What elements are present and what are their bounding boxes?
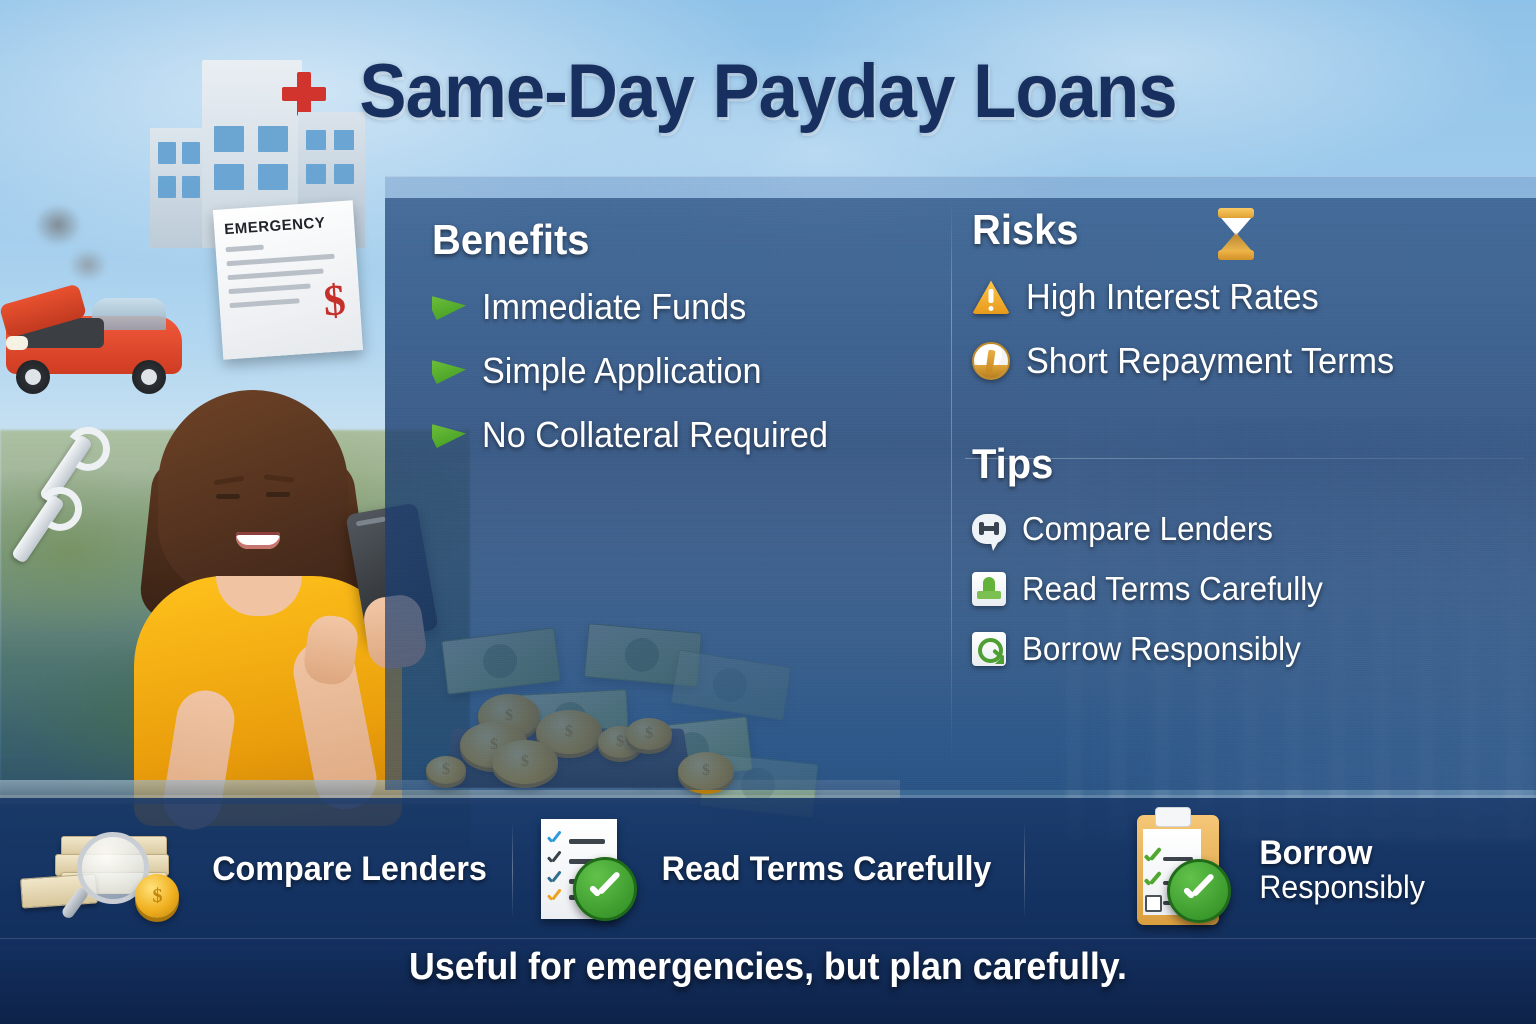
benefit-label: No Collateral Required bbox=[482, 414, 828, 456]
risks-and-tips-section: Risks High Interest Rates Short Repaymen… bbox=[972, 206, 1472, 690]
document-tile-icon bbox=[972, 572, 1006, 606]
broken-down-car-icon bbox=[0, 280, 190, 400]
emergency-document-title: EMERGENCY bbox=[224, 212, 355, 238]
bottom-item-borrow-responsibly: Borrow Responsibly bbox=[1024, 795, 1536, 945]
benefit-item: Immediate Funds bbox=[432, 286, 902, 328]
column-divider bbox=[951, 202, 952, 762]
tagline: Useful for emergencies, but plan careful… bbox=[46, 946, 1490, 989]
risk-label: High Interest Rates bbox=[1026, 276, 1319, 318]
tips-heading: Tips bbox=[972, 440, 1447, 488]
risk-label: Short Repayment Terms bbox=[1026, 340, 1394, 382]
benefits-section: Benefits Immediate Funds Simple Applicat… bbox=[432, 216, 902, 478]
risk-item: High Interest Rates bbox=[972, 276, 1472, 318]
bottom-item-label: Compare Lenders bbox=[213, 852, 488, 887]
benefit-item: Simple Application bbox=[432, 350, 902, 392]
emergency-document: EMERGENCY $ bbox=[213, 200, 363, 359]
warning-triangle-icon bbox=[972, 280, 1010, 314]
bottom-item-label-line1: Borrow bbox=[1259, 834, 1372, 872]
bottom-item-compare-lenders: Compare Lenders bbox=[0, 795, 512, 945]
benefits-heading: Benefits bbox=[432, 216, 879, 264]
magnifier-tile-icon bbox=[972, 632, 1006, 666]
benefit-label: Simple Application bbox=[482, 350, 761, 392]
green-arrow-bullet-icon bbox=[432, 422, 466, 448]
tip-item: Compare Lenders bbox=[972, 510, 1472, 548]
wrench-icon bbox=[11, 494, 66, 564]
speech-bubble-icon bbox=[972, 514, 1006, 544]
dollar-sign-icon: $ bbox=[322, 274, 348, 326]
checklist-check-icon bbox=[535, 815, 635, 925]
infographic-canvas: EMERGENCY $ bbox=[0, 0, 1536, 1024]
bottom-item-label-line2: Responsibly bbox=[1259, 871, 1425, 904]
hourglass-icon bbox=[1214, 208, 1258, 260]
page-title: Same-Day Payday Loans bbox=[54, 48, 1482, 135]
bottom-summary-bar: Compare Lenders Read Terms Carefully bbox=[0, 795, 1536, 945]
bottom-item-label: Read Terms Carefully bbox=[662, 852, 992, 887]
tip-label: Compare Lenders bbox=[1022, 510, 1273, 548]
tip-label: Read Terms Carefully bbox=[1022, 570, 1323, 608]
tip-label: Borrow Responsibly bbox=[1022, 630, 1301, 668]
benefit-label: Immediate Funds bbox=[482, 286, 746, 328]
tip-item: Borrow Responsibly bbox=[972, 630, 1472, 668]
bottom-item-label: Borrow Responsibly bbox=[1259, 836, 1425, 905]
tip-item: Read Terms Carefully bbox=[972, 570, 1472, 608]
risks-heading: Risks bbox=[972, 206, 1078, 254]
benefit-item: No Collateral Required bbox=[432, 414, 902, 456]
risk-item: Short Repayment Terms bbox=[972, 340, 1472, 382]
clipboard-check-icon bbox=[1131, 811, 1237, 929]
sand-clock-icon bbox=[972, 342, 1010, 380]
bottom-item-read-terms: Read Terms Carefully bbox=[512, 795, 1024, 945]
woman-with-smartphone bbox=[128, 390, 428, 830]
green-arrow-bullet-icon bbox=[432, 294, 466, 320]
money-stack-magnifier-icon bbox=[17, 822, 187, 918]
green-arrow-bullet-icon bbox=[432, 358, 466, 384]
